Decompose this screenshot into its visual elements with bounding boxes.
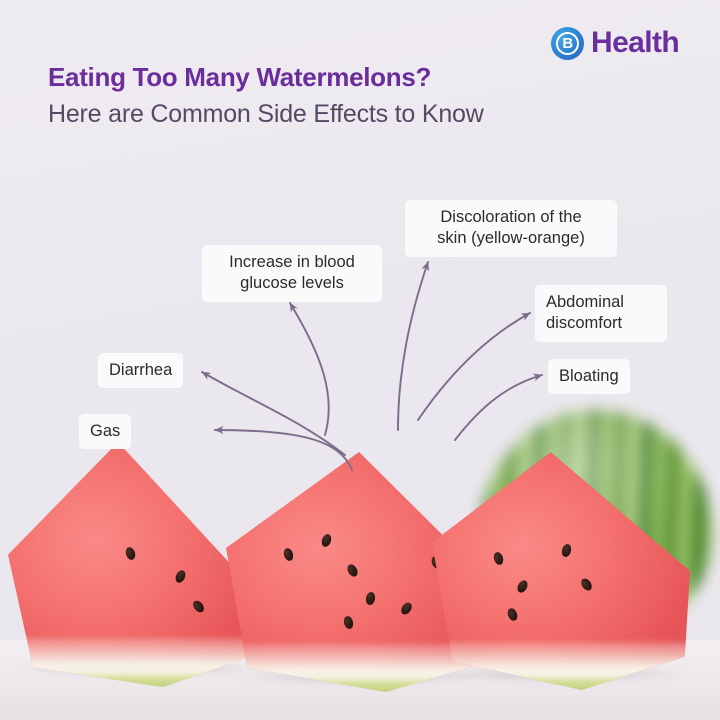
callout-line-1: Abdominal — [546, 293, 624, 311]
callout-abdominal: Abdominal discomfort — [535, 285, 667, 342]
callout-line-1: Increase in blood — [229, 253, 355, 271]
callout-line-2: discomfort — [546, 314, 622, 332]
page-title: Eating Too Many Watermelons? — [48, 62, 648, 93]
infographic-canvas: B Health Eating Too Many Watermelons? He… — [0, 0, 720, 720]
callout-bloating: Bloating — [548, 359, 630, 394]
callout-glucose: Increase in blood glucose levels — [202, 245, 382, 302]
logo-mark-letter: B — [562, 36, 572, 51]
callout-line-2: glucose levels — [240, 274, 344, 292]
callout-diarrhea: Diarrhea — [98, 353, 183, 388]
callout-line-1: Discoloration of the — [440, 208, 581, 226]
callout-line-2: skin (yellow-orange) — [437, 229, 585, 247]
callout-gas: Gas — [79, 414, 131, 449]
callout-discoloration: Discoloration of the skin (yellow-orange… — [405, 200, 617, 257]
page-subtitle: Here are Common Side Effects to Know — [48, 100, 688, 129]
watermelon-wedge — [8, 442, 258, 687]
bajaj-b-icon: B — [551, 27, 584, 60]
logo-wordmark: Health — [591, 26, 679, 60]
brand-logo[interactable]: B Health — [551, 26, 679, 60]
